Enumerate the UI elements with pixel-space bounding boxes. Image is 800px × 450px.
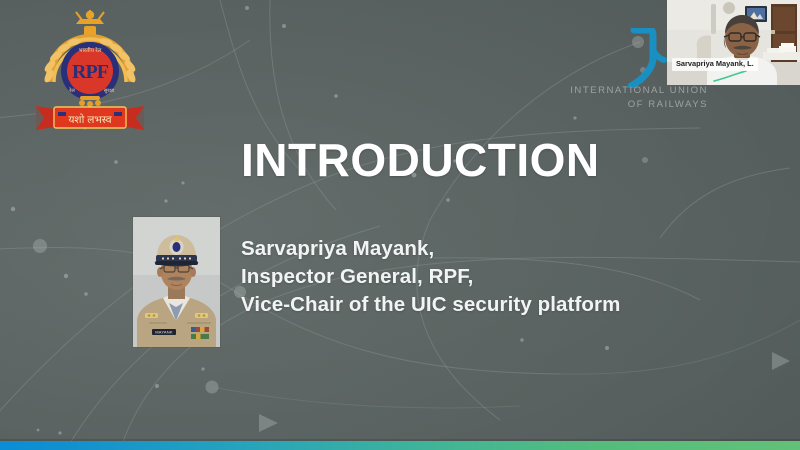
rpf-emblem-icon: RPF भारतीय रेल रेल सुरक्षा bbox=[14, 6, 166, 136]
svg-text:RPF: RPF bbox=[72, 61, 109, 83]
svg-text:भारतीय रेल: भारतीय रेल bbox=[79, 47, 102, 54]
slide-body-text: Sarvapriya Mayank, Inspector General, RP… bbox=[241, 235, 620, 319]
uic-brand-line-2: OF RAILWAYS bbox=[518, 98, 708, 112]
slide-body-line-3: Vice-Chair of the UIC security platform bbox=[241, 291, 620, 319]
svg-text:सुरक्षा: सुरक्षा bbox=[104, 88, 115, 94]
officer-portrait-image: MAYANK bbox=[133, 217, 220, 347]
laser-pointer-icon bbox=[713, 70, 747, 82]
uic-brand-line-1: INTERNATIONAL UNION bbox=[570, 85, 708, 96]
screen: RPF भारतीय रेल रेल सुरक्षा bbox=[0, 0, 800, 450]
participant-name-label: Sarvapriya Mayank, L. bbox=[672, 58, 758, 71]
svg-text:यशो लभस्व: यशो लभस्व bbox=[68, 113, 111, 126]
uic-brand-wordmark: INTERNATIONAL UNION OF RAILWAYS bbox=[518, 84, 708, 111]
slide-body-line-1: Sarvapriya Mayank, bbox=[241, 235, 620, 263]
uic-hook-logo-icon bbox=[628, 28, 672, 88]
slide-title: INTRODUCTION bbox=[241, 136, 600, 184]
svg-text:MAYANK: MAYANK bbox=[155, 330, 173, 335]
slide-body-line-2: Inspector General, RPF, bbox=[241, 263, 620, 291]
svg-text:रेल: रेल bbox=[68, 87, 75, 94]
accent-gradient-bar bbox=[0, 441, 800, 450]
